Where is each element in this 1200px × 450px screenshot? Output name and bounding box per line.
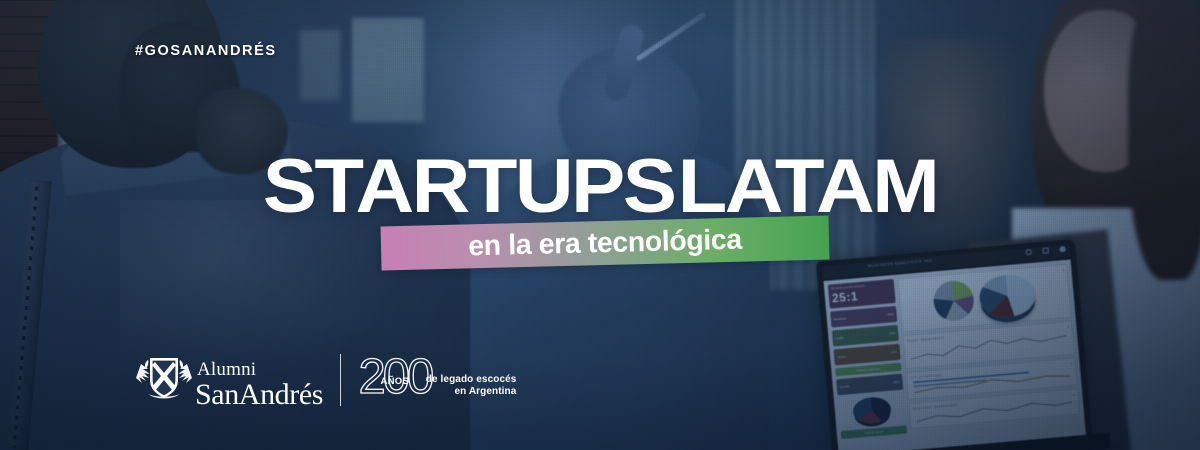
hashtag: #GOSANANDRÉS bbox=[135, 43, 277, 59]
bicentennial-line-1: de legado escocés bbox=[416, 374, 516, 387]
sanandres-logo: Alumni SanAndrés bbox=[136, 349, 323, 410]
banner-content: #GOSANANDRÉS STARTUPSLATAM en la era tec… bbox=[0, 0, 1200, 450]
subtitle-text: en la era tecnológica bbox=[468, 223, 742, 263]
bicentennial-logo: 200 AÑOS de legado escocés en Argentina bbox=[358, 354, 518, 406]
sanandres-wordmark: Alumni SanAndrés bbox=[195, 349, 323, 410]
headline-word-startups: STARTUPS bbox=[263, 144, 675, 229]
alumni-label: Alumni bbox=[197, 360, 323, 379]
logo-lockup: Alumni SanAndrés 200 AÑOS de legado esco… bbox=[136, 349, 518, 410]
bicentennial-line-2: en Argentina bbox=[416, 386, 516, 399]
bicentennial-tagline: de legado escocés en Argentina bbox=[416, 374, 516, 400]
page-title: STARTUPSLATAM bbox=[0, 152, 1200, 222]
vertical-divider-icon bbox=[340, 354, 341, 406]
sanandres-label: SanAndrés bbox=[195, 380, 323, 410]
saltire-crest-icon bbox=[136, 350, 192, 404]
event-banner: BUSINESS ANALYTICS 360 Business growth a… bbox=[0, 0, 1200, 450]
bicentennial-anos-label: AÑOS bbox=[380, 376, 409, 387]
